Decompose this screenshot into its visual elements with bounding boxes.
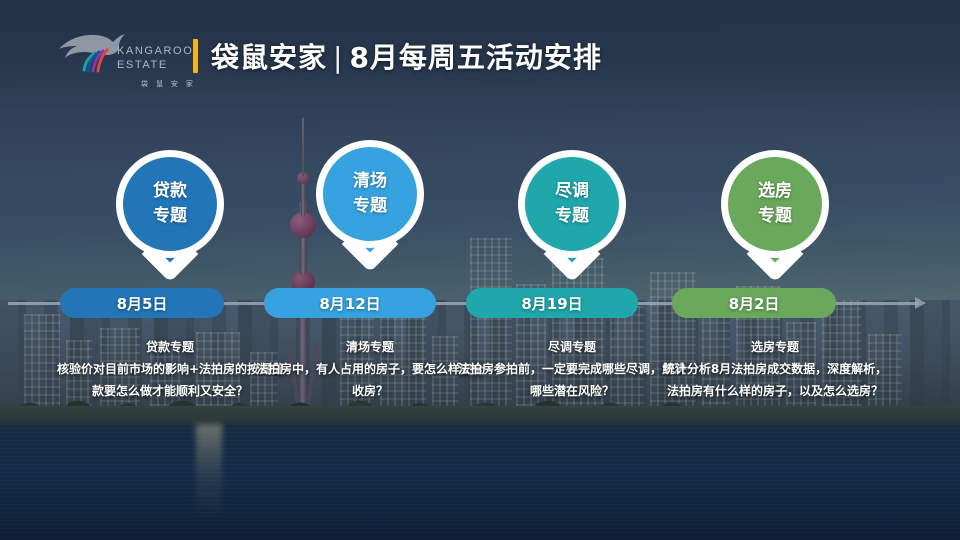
description-body: 法拍房中，有人占用的房子，要怎么样安全收房？ [255,358,485,402]
slide-canvas: KANGAROO ESTATE 袋 鼠 安 家 袋鼠安家|8月每周五活动安排 贷… [0,0,960,540]
pin-marker[interactable]: 选房 专题 [721,150,829,282]
date-badge[interactable]: 8月19日 [466,288,638,318]
arrow-right-icon [915,297,926,309]
description-title: 清场专题 [255,336,485,358]
description: 贷款专题 核验价对目前市场的影响+法拍房的按揭贷款要怎么做才能顺利又安全？ [55,336,285,403]
pin-marker[interactable]: 贷款 专题 [116,150,224,282]
title-text: 8月每周五活动安排 [349,41,601,74]
description-body: 法拍房参拍前，一定要完成哪些尽调，解决哪些潜在风险？ [457,358,687,402]
date-badge[interactable]: 8月5日 [60,288,224,318]
svg-text:KANGAROO: KANGAROO [117,45,193,57]
pin-label: 选房 专题 [721,150,829,258]
pin-label-line1: 清场 [353,169,387,194]
pin-marker[interactable]: 尽调 专题 [518,150,626,282]
description: 尽调专题 法拍房参拍前，一定要完成哪些尽调，解决哪些潜在风险？ [457,336,687,403]
pin-label-line2: 专题 [555,204,589,229]
svg-text:ESTATE: ESTATE [117,59,168,71]
title-separator: | [327,41,349,74]
description-body: 核验价对目前市场的影响+法拍房的按揭贷款要怎么做才能顺利又安全？ [55,358,285,402]
pin-label-line1: 选房 [758,179,792,204]
description-title: 贷款专题 [55,336,285,358]
pin-marker[interactable]: 清场 专题 [316,140,424,272]
pin-label: 尽调 专题 [518,150,626,258]
description-body: 统计分析8月法拍房成交数据，深度解析，法拍房有什么样的房子，以及怎么选房？ [660,358,890,402]
pin-label-line1: 贷款 [153,179,187,204]
brand-name: 袋鼠安家 [211,41,327,74]
header: KANGAROO ESTATE 袋 鼠 安 家 袋鼠安家|8月每周五活动安排 [0,0,960,100]
description: 清场专题 法拍房中，有人占用的房子，要怎么样安全收房？ [255,336,485,403]
description-title: 尽调专题 [457,336,687,358]
date-badge[interactable]: 8月2日 [672,288,836,318]
pin-label: 贷款 专题 [116,150,224,258]
title-accent-bar [193,39,198,73]
kangaroo-estate-logo: KANGAROO ESTATE 袋 鼠 安 家 [55,27,195,79]
logo-chinese-subtitle: 袋 鼠 安 家 [141,79,196,89]
date-badge[interactable]: 8月12日 [264,288,436,318]
pin-label: 清场 专题 [316,140,424,248]
pin-label-line2: 专题 [353,194,387,219]
pin-label-line2: 专题 [758,204,792,229]
pin-label-line1: 尽调 [555,179,589,204]
description: 选房专题 统计分析8月法拍房成交数据，深度解析，法拍房有什么样的房子，以及怎么选… [660,336,890,403]
description-title: 选房专题 [660,336,890,358]
pin-label-line2: 专题 [153,204,187,229]
page-title: 袋鼠安家|8月每周五活动安排 [193,34,602,78]
